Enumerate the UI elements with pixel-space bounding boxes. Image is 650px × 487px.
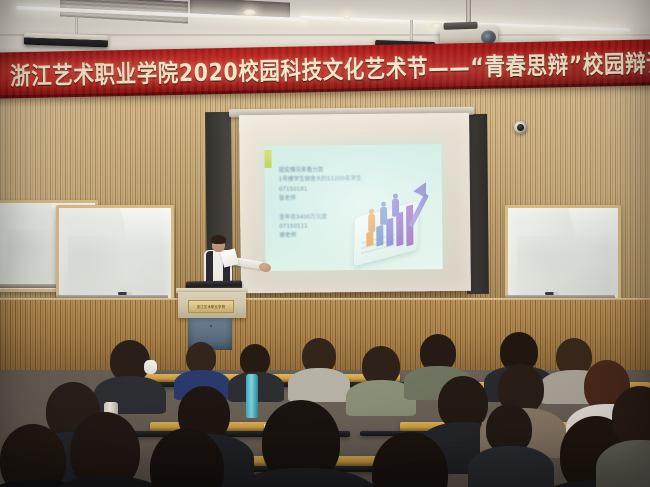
projection-screen: 现实情况来看分类 1号楼学生宿舍大约11200名学生 07150181 张老师 … <box>239 113 471 293</box>
audience-head-foreground <box>0 424 66 487</box>
whiteboard-marker[interactable] <box>545 292 559 295</box>
speaker-mount-pole <box>410 20 413 42</box>
lecture-hall-photo: 浙江艺术职业学院2020校园科技文化艺术节——“青春思辩”校园辩论赛复赛 现实情… <box>0 0 650 487</box>
whiteboard-left <box>56 205 174 303</box>
water-bottle-teal[interactable] <box>246 374 258 418</box>
face-mask <box>144 360 157 374</box>
downlight <box>343 14 351 19</box>
security-camera-icon <box>514 121 527 134</box>
presenter-hair <box>211 235 226 244</box>
podium-nameplate: 浙江艺术职业学院 <box>188 300 234 313</box>
audience-shoulders <box>288 368 350 402</box>
presentation-slide: 现实情况来看分类 1号楼学生宿舍大约11200名学生 07150181 张老师 … <box>264 144 442 271</box>
whiteboard-marker[interactable] <box>118 292 132 295</box>
audience-shoulders <box>468 446 554 487</box>
seated-audience <box>0 330 650 487</box>
speaker-mount-pole <box>75 18 78 34</box>
downlight <box>243 9 256 16</box>
podium-nameplate-text: 浙江艺术职业学院 <box>197 304 226 309</box>
whiteboard-right <box>505 205 621 303</box>
